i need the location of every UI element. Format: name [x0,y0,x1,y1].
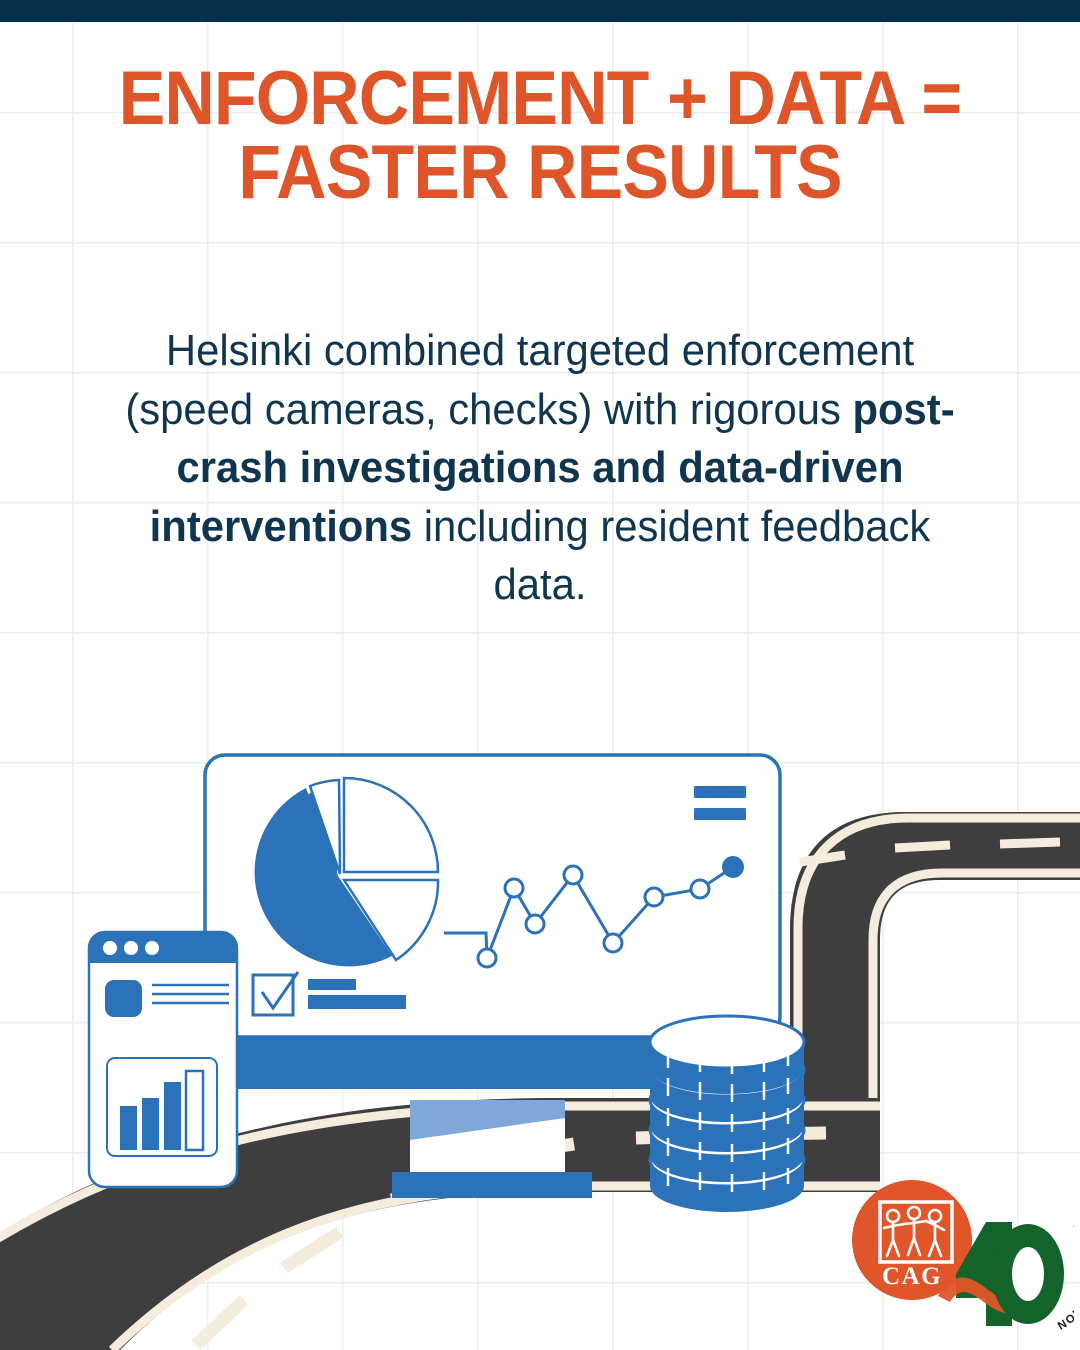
page-title: ENFORCEMENT + DATA = FASTER RESULTS [98,62,981,209]
dashboard-pie-chart [255,778,438,966]
cag-wordmark: CAG [882,1263,942,1290]
body-paragraph: Helsinki combined targeted enforcement (… [111,322,970,615]
headline-line-1: ENFORCEMENT + DATA = [119,56,962,141]
line-chart-endpoint [722,856,744,878]
cag-40-years-logo: CAG YEARS OF ACTION [838,1178,1074,1346]
top-navy-bar [0,0,1080,22]
infographic-page: ENFORCEMENT + DATA = FASTER RESULTS Hels… [0,0,1080,1350]
avatar [105,980,142,1017]
headline-line-2: FASTER RESULTS [98,136,981,210]
window-dots-icon [103,941,159,955]
body-segment-plain-1: Helsinki combined targeted enforcement (… [125,326,914,434]
body-segment-plain-2: including resident feedback data. [412,502,930,610]
browser-window-card [89,932,237,1187]
coin-stack [650,1016,804,1212]
